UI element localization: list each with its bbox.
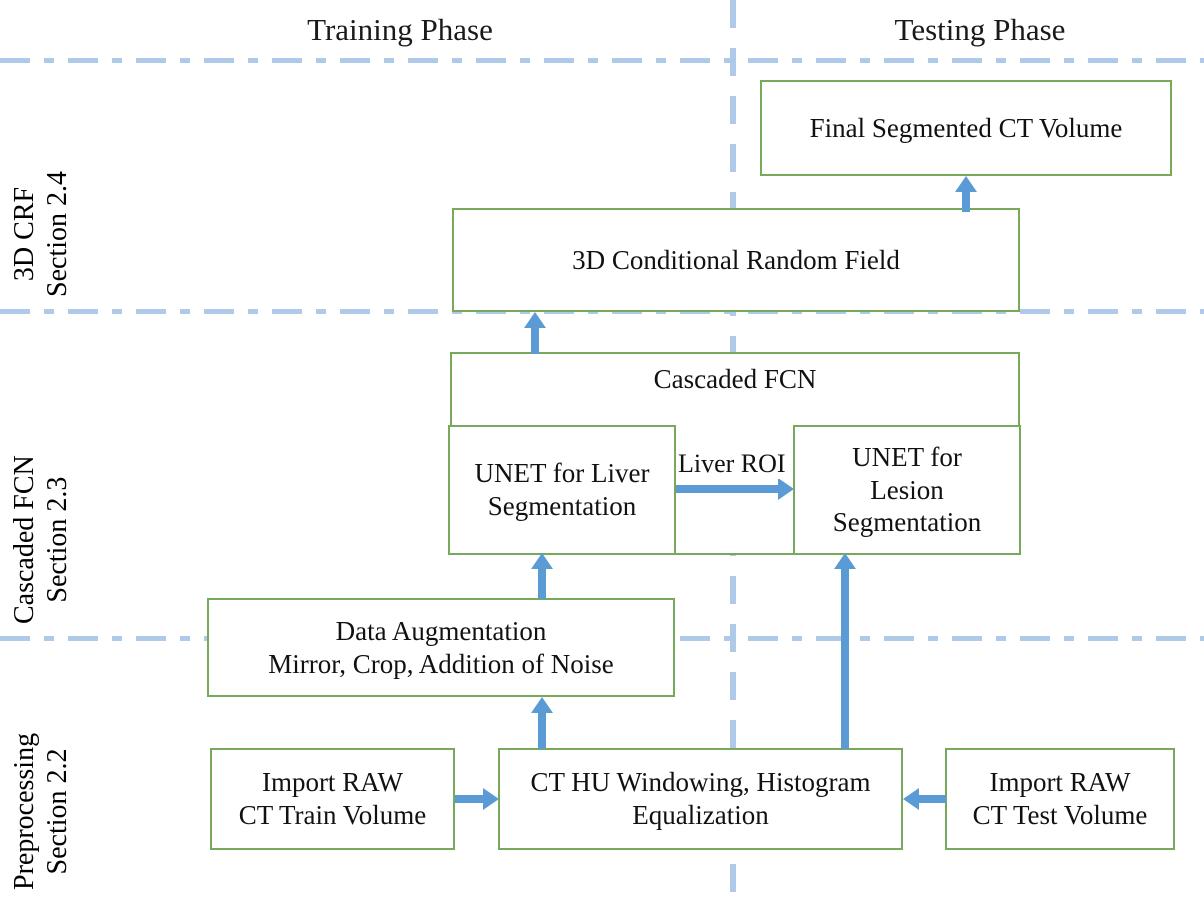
arrow-crf-to-final-volume: [955, 176, 977, 212]
box-unet-lesion-segmentation-line3: Segmentation: [833, 506, 981, 539]
box-final-segmented-ct-volume[interactable]: Final Segmented CT Volume: [760, 80, 1172, 176]
box-import-raw-ct-test-volume[interactable]: Import RAW CT Test Volume: [945, 748, 1175, 850]
box-3d-conditional-random-field[interactable]: 3D Conditional Random Field: [452, 208, 1020, 312]
training-phase-title: Training Phase: [240, 14, 560, 45]
box-import-raw-ct-train-volume[interactable]: Import RAW CT Train Volume: [210, 748, 455, 850]
box-import-raw-ct-train-volume-line1: Import RAW: [239, 766, 427, 799]
box-ct-hu-windowing-line1: CT HU Windowing, Histogram: [531, 766, 871, 799]
box-unet-lesion-segmentation-line2: Lesion: [833, 474, 981, 507]
box-cascaded-fcn-line1: Cascaded FCN: [654, 363, 817, 396]
arrow-cascaded-fcn-to-crf: [524, 312, 546, 354]
testing-phase-title: Testing Phase: [830, 14, 1130, 45]
box-import-raw-ct-test-volume-line1: Import RAW: [973, 766, 1148, 799]
section-label-preprocessing-line2: Section 2.2: [41, 733, 74, 890]
box-import-raw-ct-test-volume-line2: CT Test Volume: [973, 799, 1148, 832]
arrow-windowing-to-unet-lesion: [834, 553, 856, 749]
section-label-3d-crf-line1: 3D CRF: [8, 171, 41, 297]
arrow-windowing-to-data-augmentation: [531, 697, 553, 749]
edge-label-liver-roi: Liver ROI: [678, 449, 786, 479]
section-label-preprocessing: Preprocessing Section 2.2: [8, 733, 74, 890]
box-final-segmented-ct-volume-line1: Final Segmented CT Volume: [810, 112, 1123, 145]
box-data-augmentation-line1: Data Augmentation: [268, 615, 613, 648]
box-ct-hu-windowing-line2: Equalization: [531, 799, 871, 832]
section-label-cascaded-fcn: Cascaded FCN Section 2.3: [8, 455, 74, 624]
diagram-canvas: Training Phase Testing Phase 3D CRF Sect…: [0, 0, 1204, 905]
arrow-data-augmentation-to-unet-liver: [531, 553, 553, 599]
section-label-preprocessing-line1: Preprocessing: [8, 733, 41, 890]
box-data-augmentation-line2: Mirror, Crop, Addition of Noise: [268, 648, 613, 681]
box-unet-liver-segmentation-line2: Segmentation: [475, 490, 650, 523]
section-label-3d-crf-line2: Section 2.4: [41, 171, 74, 297]
arrow-liver-roi: [676, 478, 794, 500]
section-label-cascaded-fcn-line2: Section 2.3: [41, 455, 74, 624]
arrow-import-train-to-windowing: [455, 788, 499, 810]
box-unet-lesion-segmentation-line1: UNET for: [833, 441, 981, 474]
box-unet-liver-segmentation-line1: UNET for Liver: [475, 457, 650, 490]
box-data-augmentation[interactable]: Data Augmentation Mirror, Crop, Addition…: [207, 598, 675, 697]
section-label-cascaded-fcn-line1: Cascaded FCN: [8, 455, 41, 624]
box-unet-lesion-segmentation[interactable]: UNET for Lesion Segmentation: [793, 425, 1021, 555]
box-3d-conditional-random-field-line1: 3D Conditional Random Field: [572, 244, 900, 277]
box-ct-hu-windowing[interactable]: CT HU Windowing, Histogram Equalization: [498, 748, 903, 850]
section-label-3d-crf: 3D CRF Section 2.4: [8, 171, 74, 297]
box-import-raw-ct-train-volume-line2: CT Train Volume: [239, 799, 427, 832]
divider-top: [0, 58, 1204, 63]
box-unet-liver-segmentation[interactable]: UNET for Liver Segmentation: [448, 425, 676, 555]
arrow-import-test-to-windowing: [903, 788, 946, 810]
